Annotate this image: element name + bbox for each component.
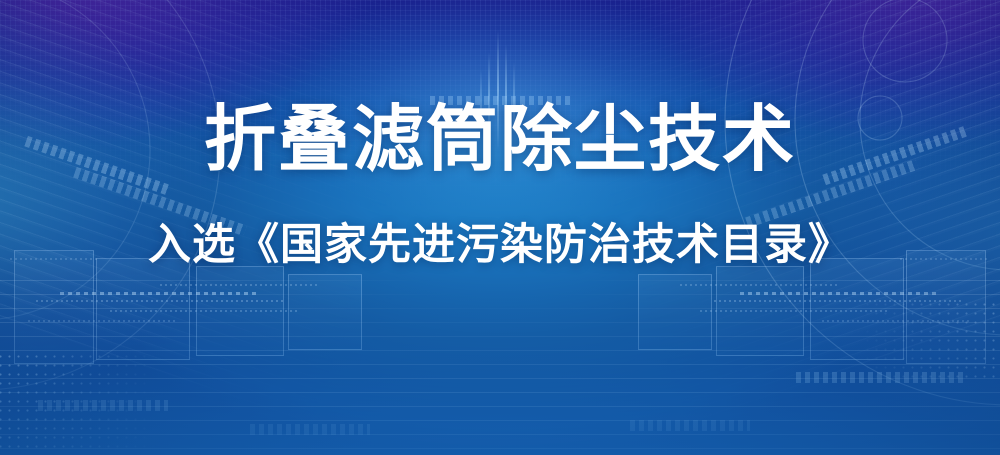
- page-title: 折叠滤筒除尘技术: [204, 104, 796, 176]
- page-subtitle: 入选《国家先进污染防治技术目录》: [148, 224, 852, 267]
- banner-text-block: 折叠滤筒除尘技术 入选《国家先进污染防治技术目录》: [0, 0, 1000, 455]
- tech-banner: 折叠滤筒除尘技术 入选《国家先进污染防治技术目录》: [0, 0, 1000, 455]
